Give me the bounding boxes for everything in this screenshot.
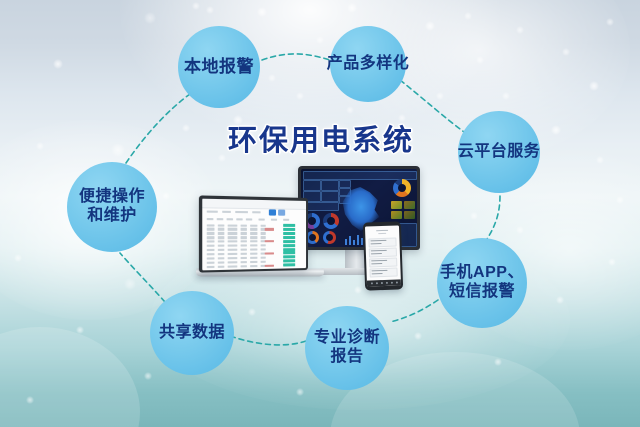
phone-screen bbox=[365, 225, 401, 286]
bubble-label-line: 云平台服务 bbox=[458, 143, 541, 162]
bubble-label-diagnostic-report: 专业诊断报告 bbox=[314, 329, 380, 367]
desktop-monitor bbox=[298, 166, 420, 250]
poster-canvas: 环保用电系统 本地报警产品多样化云平台服务手机APP、短信报警专业诊断报告共享数… bbox=[0, 0, 640, 427]
bubble-product-variety[interactable]: 产品多样化 bbox=[330, 26, 406, 102]
bubble-mobile-app-sms[interactable]: 手机APP、短信报警 bbox=[437, 238, 527, 328]
laptop bbox=[199, 195, 308, 272]
bubble-label-local-alarm: 本地报警 bbox=[184, 57, 254, 77]
bubble-label-line: 专业诊断 bbox=[314, 329, 380, 348]
bubble-label-line: 和维护 bbox=[79, 207, 145, 226]
laptop-screen bbox=[202, 198, 306, 270]
bubble-label-cloud-service: 云平台服务 bbox=[458, 143, 541, 162]
bubble-label-easy-operation: 便捷操作和维护 bbox=[79, 188, 145, 226]
bubble-local-alarm[interactable]: 本地报警 bbox=[178, 26, 260, 108]
page-title: 环保用电系统 bbox=[228, 117, 414, 159]
bubble-label-product-variety: 产品多样化 bbox=[327, 55, 410, 74]
smartphone bbox=[363, 221, 403, 290]
bubble-label-line: 本地报警 bbox=[184, 57, 254, 77]
bubble-shared-data[interactable]: 共享数据 bbox=[150, 291, 234, 375]
bubble-label-shared-data: 共享数据 bbox=[159, 324, 225, 343]
bubble-cloud-service[interactable]: 云平台服务 bbox=[458, 111, 540, 193]
bubble-label-line: 短信报警 bbox=[440, 283, 524, 302]
bubble-easy-operation[interactable]: 便捷操作和维护 bbox=[67, 162, 157, 252]
bubble-label-line: 共享数据 bbox=[159, 324, 225, 343]
bubble-label-line: 报告 bbox=[314, 348, 380, 367]
bubble-label-line: 便捷操作 bbox=[79, 188, 145, 207]
bubble-label-line: 产品多样化 bbox=[327, 55, 410, 74]
bubble-label-mobile-app-sms: 手机APP、短信报警 bbox=[440, 264, 524, 302]
bubble-diagnostic-report[interactable]: 专业诊断报告 bbox=[305, 306, 389, 390]
bubble-label-line: 手机APP、 bbox=[440, 264, 524, 283]
